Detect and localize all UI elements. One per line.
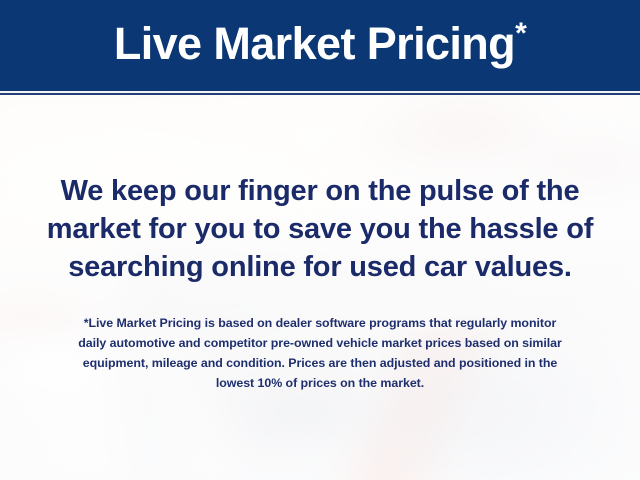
disclaimer-text: *Live Market Pricing is based on dealer … (20, 313, 620, 393)
disclaimer-line-3: equipment, mileage and condition. Prices… (20, 353, 620, 373)
live-market-pricing-ad: Live Market Pricing* We keep our finger … (0, 0, 640, 480)
banner-bottom-rule (0, 93, 640, 95)
headline-line-1: We keep our finger on the pulse of the (20, 172, 620, 210)
headline-line-2: market for you to save you the hassle of (20, 210, 620, 248)
banner-title-text: Live Market Pricing (114, 18, 515, 69)
banner-title-asterisk: * (515, 17, 526, 50)
headline: We keep our finger on the pulse of the m… (20, 172, 620, 286)
disclaimer-line-4: lowest 10% of prices on the market. (20, 373, 620, 393)
headline-line-3: searching online for used car values. (20, 248, 620, 286)
content-area: We keep our finger on the pulse of the m… (0, 95, 640, 480)
header-banner: Live Market Pricing* (0, 0, 640, 91)
disclaimer-line-2: daily automotive and competitor pre-owne… (20, 333, 620, 353)
disclaimer-line-1: *Live Market Pricing is based on dealer … (20, 313, 620, 333)
banner-title: Live Market Pricing* (114, 21, 526, 70)
